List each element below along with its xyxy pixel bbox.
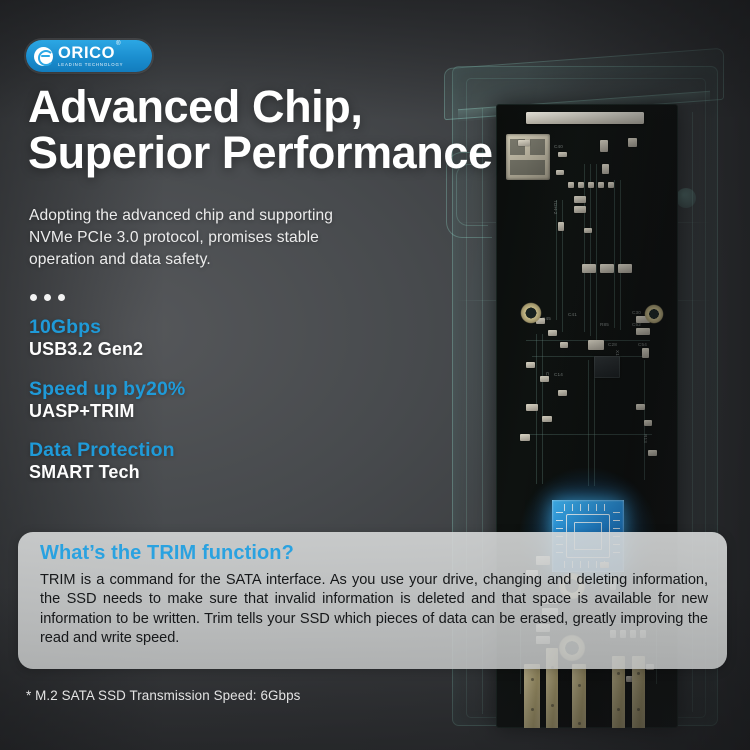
promo-page: C40 TDH-2 C45 C41 R85 C28 X1 C54 C30 C52… bbox=[0, 0, 750, 750]
trim-panel-heading: What’s the TRIM function? bbox=[40, 542, 294, 565]
orico-globe-icon bbox=[34, 47, 53, 66]
feature-item-speed: 10Gbps USB3.2 Gen2 bbox=[29, 316, 369, 361]
trim-panel-body: TRIM is a command for the SATA interface… bbox=[40, 571, 708, 649]
dot bbox=[58, 294, 65, 301]
feature-highlight: Speed up by20% bbox=[29, 378, 369, 401]
headline-line-2: Superior Performance bbox=[28, 130, 548, 176]
registered-mark: ® bbox=[116, 41, 121, 47]
description-text: Adopting the advanced chip and supportin… bbox=[29, 205, 359, 271]
feature-subtitle: USB3.2 Gen2 bbox=[29, 339, 369, 361]
page-title: Advanced Chip, Superior Performance bbox=[28, 84, 548, 176]
brand-name: ORICO® bbox=[58, 45, 123, 62]
feature-subtitle: UASP+TRIM bbox=[29, 401, 369, 423]
footnote: * M.2 SATA SSD Transmission Speed: 6Gbps bbox=[26, 688, 300, 703]
headline-line-1: Advanced Chip, bbox=[28, 84, 548, 130]
feature-subtitle: SMART Tech bbox=[29, 462, 369, 484]
feature-list: 10Gbps USB3.2 Gen2 Speed up by20% UASP+T… bbox=[29, 316, 369, 484]
brand-tagline: LEADING TECHNOLOGY bbox=[58, 63, 123, 67]
feature-highlight: Data Protection bbox=[29, 439, 369, 462]
trim-info-panel: What’s the TRIM function? TRIM is a comm… bbox=[18, 532, 727, 669]
dot bbox=[30, 294, 37, 301]
feature-item-data-protection: Data Protection SMART Tech bbox=[29, 439, 369, 484]
dot bbox=[44, 294, 51, 301]
feature-highlight: 10Gbps bbox=[29, 316, 369, 339]
dots-separator bbox=[30, 294, 65, 301]
orico-logo: ORICO® LEADING TECHNOLOGY bbox=[26, 40, 152, 72]
enclosure-led-window bbox=[676, 188, 696, 208]
feature-item-uasp-trim: Speed up by20% UASP+TRIM bbox=[29, 378, 369, 423]
